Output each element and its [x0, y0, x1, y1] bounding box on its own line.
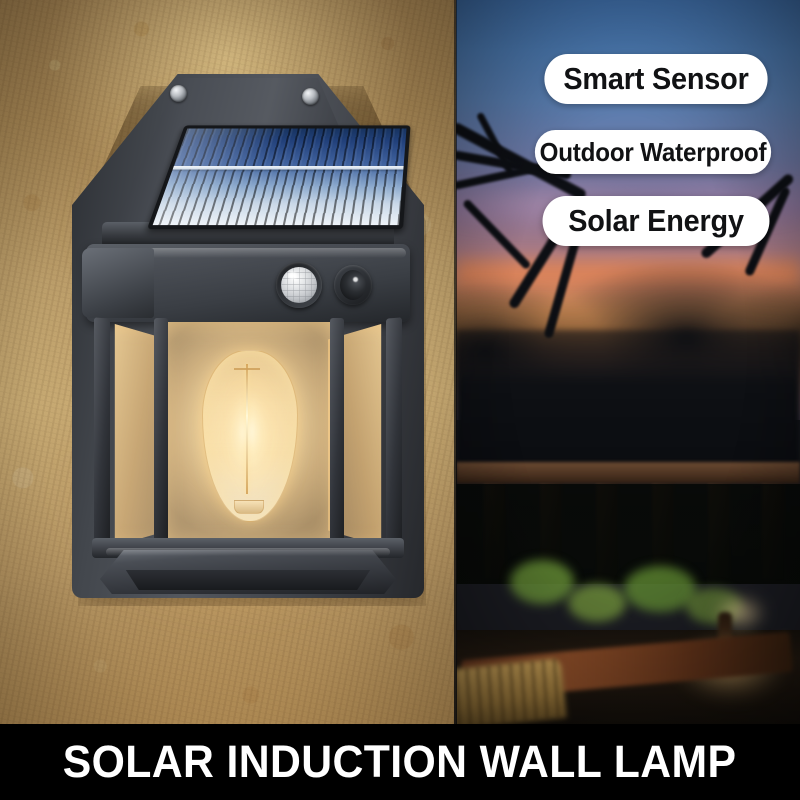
solar-panel	[147, 125, 411, 229]
frame-post-inner-right	[330, 318, 344, 550]
feature-badge-list: Smart Sensor Outdoor Waterproof Solar En…	[456, 0, 800, 280]
product-title-banner: SOLAR INDUCTION WALL LAMP	[0, 724, 800, 800]
solar-wall-lamp-fixture	[72, 72, 424, 602]
lamp-product-photo	[0, 0, 456, 724]
lamp-base-lip	[106, 548, 390, 556]
product-title-text: SOLAR INDUCTION WALL LAMP	[63, 736, 737, 788]
product-image-canvas: Smart Sensor Outdoor Waterproof Solar En…	[0, 0, 800, 800]
light-sensor-icon	[340, 270, 366, 300]
solar-panel-cells	[153, 129, 407, 226]
feature-badge-outdoor-waterproof[interactable]: Outdoor Waterproof	[535, 130, 771, 174]
frame-post-inner-left	[154, 318, 168, 550]
solar-panel-reflection	[153, 129, 407, 226]
frame-post-outer-right	[386, 317, 402, 552]
lantern-glass-housing	[94, 318, 402, 552]
pir-fresnel-lens	[281, 267, 317, 303]
lamp-base-foot	[118, 570, 378, 590]
bulb-light-core	[230, 390, 266, 474]
bulb-filament-crossbar	[234, 368, 260, 370]
feature-badge-solar-energy[interactable]: Solar Energy	[543, 196, 770, 246]
frame-post-outer-left	[94, 317, 110, 552]
mounting-screw-left	[170, 85, 187, 102]
bulb-neck	[234, 500, 264, 514]
light-sensor-highlight	[353, 277, 358, 282]
mounting-screw-right	[302, 88, 319, 105]
feature-badge-smart-sensor[interactable]: Smart Sensor	[544, 54, 767, 104]
sensor-bar-left-block	[82, 248, 154, 318]
bulb-filament	[246, 364, 248, 494]
pir-sensor-highlight	[288, 272, 297, 279]
